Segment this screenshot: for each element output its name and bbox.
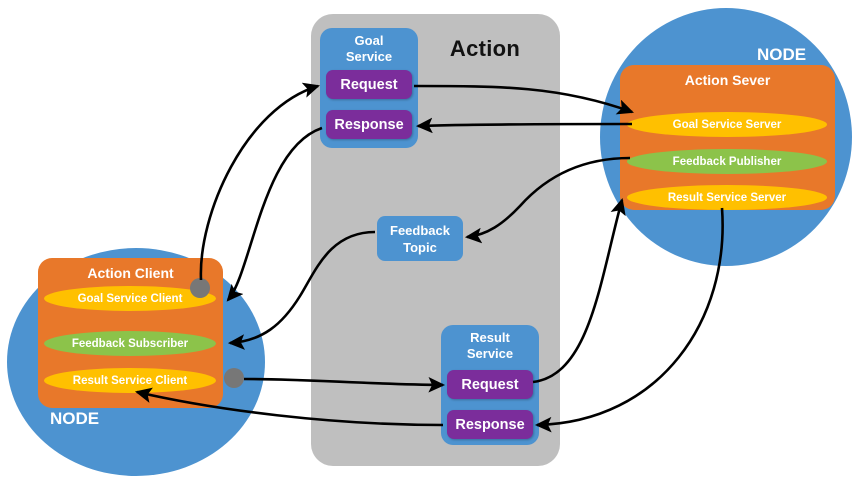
pill-result-service-server[interactable]: Result Service Server	[627, 185, 827, 210]
diagram-canvas: Action NODE Action Client Goal Service C…	[0, 0, 854, 480]
pill-feedback-publisher[interactable]: Feedback Publisher	[627, 149, 827, 174]
result-service-title-line2: Service	[467, 346, 513, 361]
goal-service-title: Goal Service	[320, 33, 418, 65]
action-panel-title: Action	[430, 36, 540, 62]
edge-goal-response-to-goal-client	[228, 128, 322, 300]
feedback-topic-line1: Feedback	[390, 222, 450, 239]
pill-feedback-subscriber[interactable]: Feedback Subscriber	[44, 331, 216, 356]
connector-dot-goal-client	[190, 278, 210, 298]
node-left-label: NODE	[50, 409, 99, 429]
node-right-label: NODE	[757, 45, 806, 65]
result-service-title: Result Service	[441, 330, 539, 362]
feedback-topic-box[interactable]: Feedback Topic	[377, 216, 463, 261]
goal-service-title-line2: Service	[346, 49, 392, 64]
goal-service-title-line1: Goal	[355, 33, 384, 48]
action-server-title: Action Sever	[620, 72, 835, 88]
feedback-topic-line2: Topic	[403, 239, 437, 256]
result-service-response-chip[interactable]: Response	[447, 410, 533, 439]
edge-goal-client-to-goal-request	[201, 86, 318, 280]
result-service-request-chip[interactable]: Request	[447, 370, 533, 399]
goal-service-request-chip[interactable]: Request	[326, 70, 412, 99]
goal-service-response-chip[interactable]: Response	[326, 110, 412, 139]
result-service-title-line1: Result	[470, 330, 510, 345]
pill-result-service-client[interactable]: Result Service Client	[44, 368, 216, 393]
pill-goal-service-server[interactable]: Goal Service Server	[627, 112, 827, 137]
connector-dot-result-client	[224, 368, 244, 388]
